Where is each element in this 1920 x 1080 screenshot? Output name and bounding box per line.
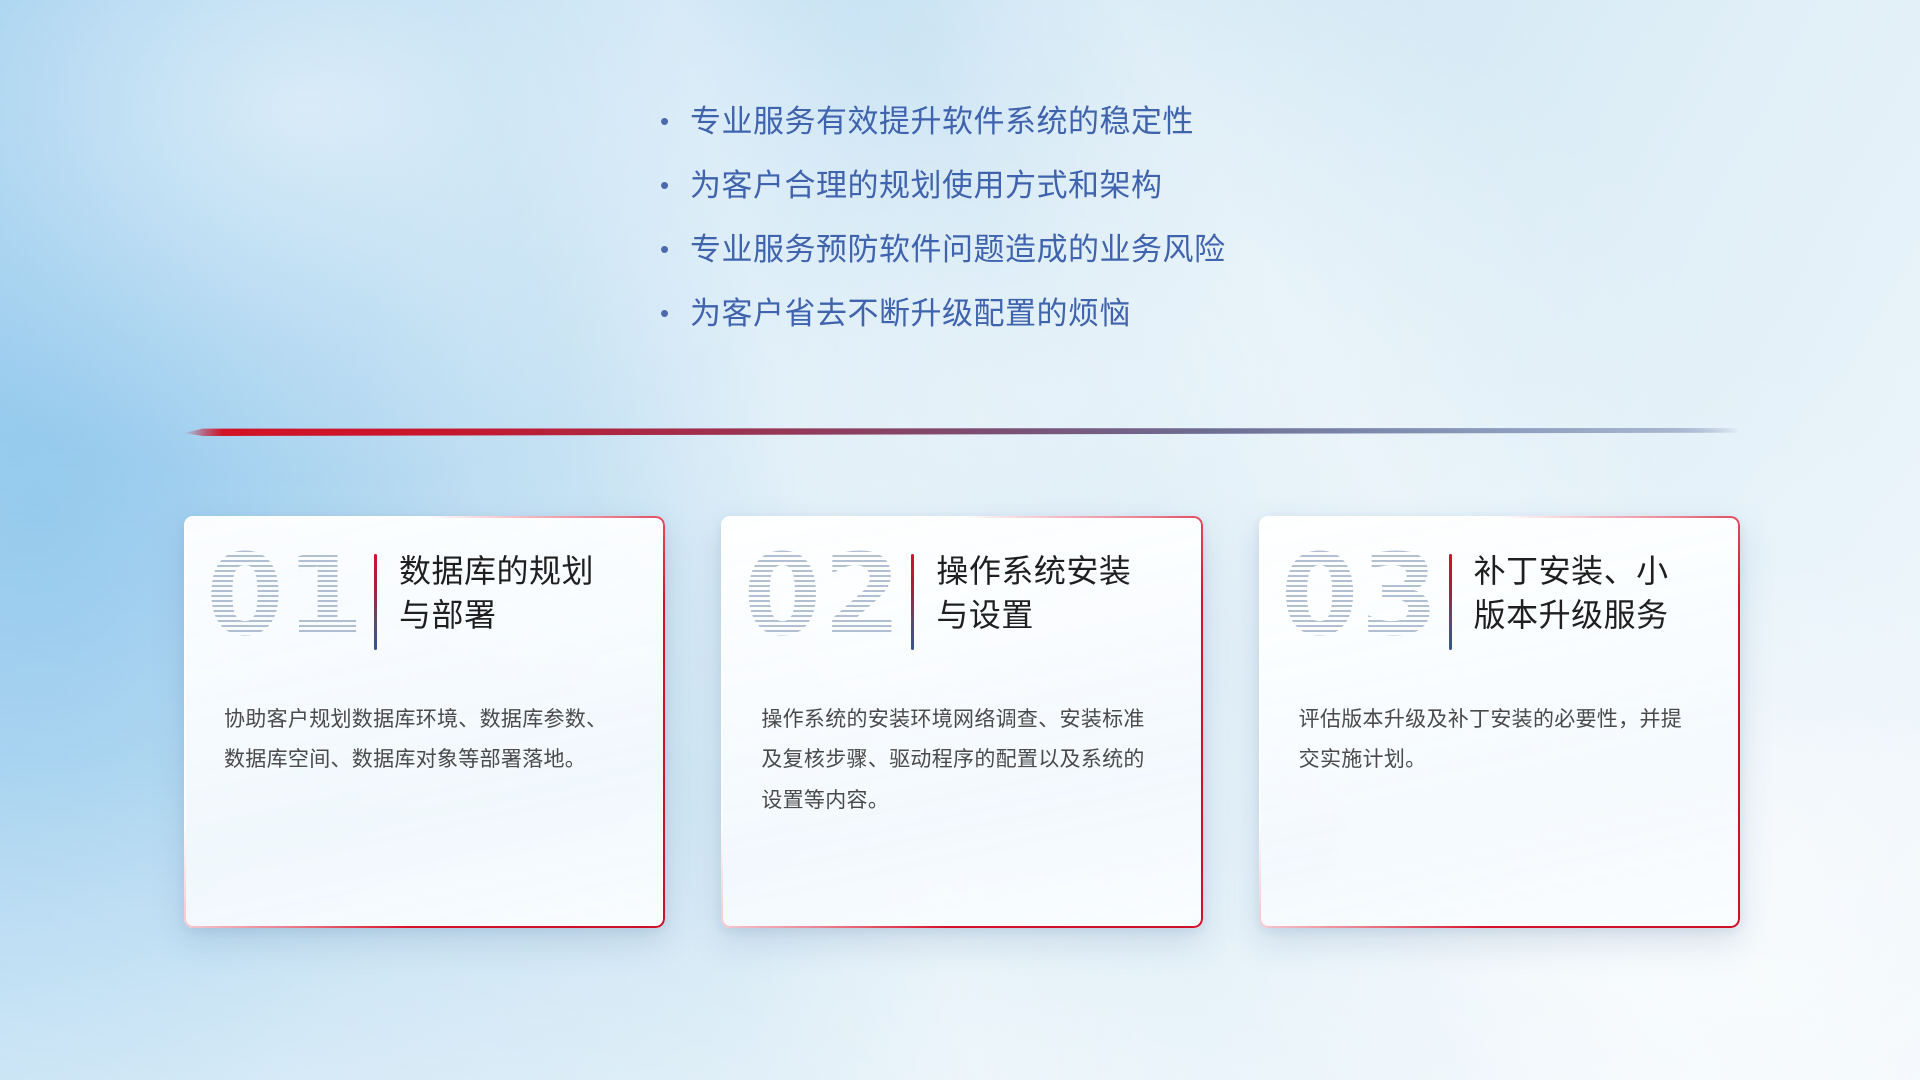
card-description: 操作系统的安装环境网络调查、安装标准及复核步骤、驱动程序的配置以及系统的设置等内… (761, 700, 1162, 821)
service-card[interactable]: 02 操作系统安装与设置 操作系统的安装环境网络调查、安装标准及复核步骤、驱动程… (721, 516, 1202, 928)
card-header: 数据库的规划与部署 (224, 550, 625, 658)
bullet-dot-icon: • (660, 108, 690, 134)
card-title: 操作系统安装与设置 (936, 550, 1162, 637)
slide-root: • 专业服务有效提升软件系统的稳定性 • 为客户合理的规划使用方式和架构 • 专… (0, 0, 1920, 1080)
bullet-item: • 专业服务有效提升软件系统的稳定性 (660, 96, 1420, 160)
card-title-rule (1449, 554, 1452, 650)
card-title: 补丁安装、小版本升级服务 (1474, 550, 1700, 637)
bullet-item: • 为客户合理的规划使用方式和架构 (660, 160, 1420, 224)
card-title: 数据库的规划与部署 (399, 550, 625, 637)
card-description: 评估版本升级及补丁安装的必要性，并提交实施计划。 (1299, 700, 1700, 781)
card-description: 协助客户规划数据库环境、数据库参数、数据库空间、数据库对象等部署落地。 (224, 700, 625, 781)
bullet-text: 专业服务有效提升软件系统的稳定性 (690, 96, 1194, 141)
card-header: 操作系统安装与设置 (761, 550, 1162, 658)
benefits-bullet-list: • 专业服务有效提升软件系统的稳定性 • 为客户合理的规划使用方式和架构 • 专… (660, 96, 1420, 352)
bullet-item: • 专业服务预防软件问题造成的业务风险 (660, 224, 1420, 288)
bullet-dot-icon: • (660, 172, 690, 198)
section-divider (184, 428, 1740, 442)
bullet-dot-icon: • (660, 236, 690, 262)
card-header: 补丁安装、小版本升级服务 (1299, 550, 1700, 658)
bullet-text: 为客户省去不断升级配置的烦恼 (690, 288, 1131, 333)
service-card[interactable]: 01 数据库的规划与部署 协助客户规划数据库环境、数据库参数、数据库空间、数据库… (184, 516, 665, 928)
service-card-list: 01 数据库的规划与部署 协助客户规划数据库环境、数据库参数、数据库空间、数据库… (184, 516, 1740, 928)
bullet-dot-icon: • (660, 300, 690, 326)
service-card[interactable]: 03 补丁安装、小版本升级服务 评估版本升级及补丁安装的必要性，并提交实施计划。 (1259, 516, 1740, 928)
bullet-item: • 为客户省去不断升级配置的烦恼 (660, 288, 1420, 352)
card-title-rule (374, 554, 377, 650)
bullet-text: 为客户合理的规划使用方式和架构 (690, 160, 1163, 205)
bullet-text: 专业服务预防软件问题造成的业务风险 (690, 224, 1226, 269)
card-title-rule (911, 554, 914, 650)
divider-gradient-bar (184, 428, 1740, 436)
